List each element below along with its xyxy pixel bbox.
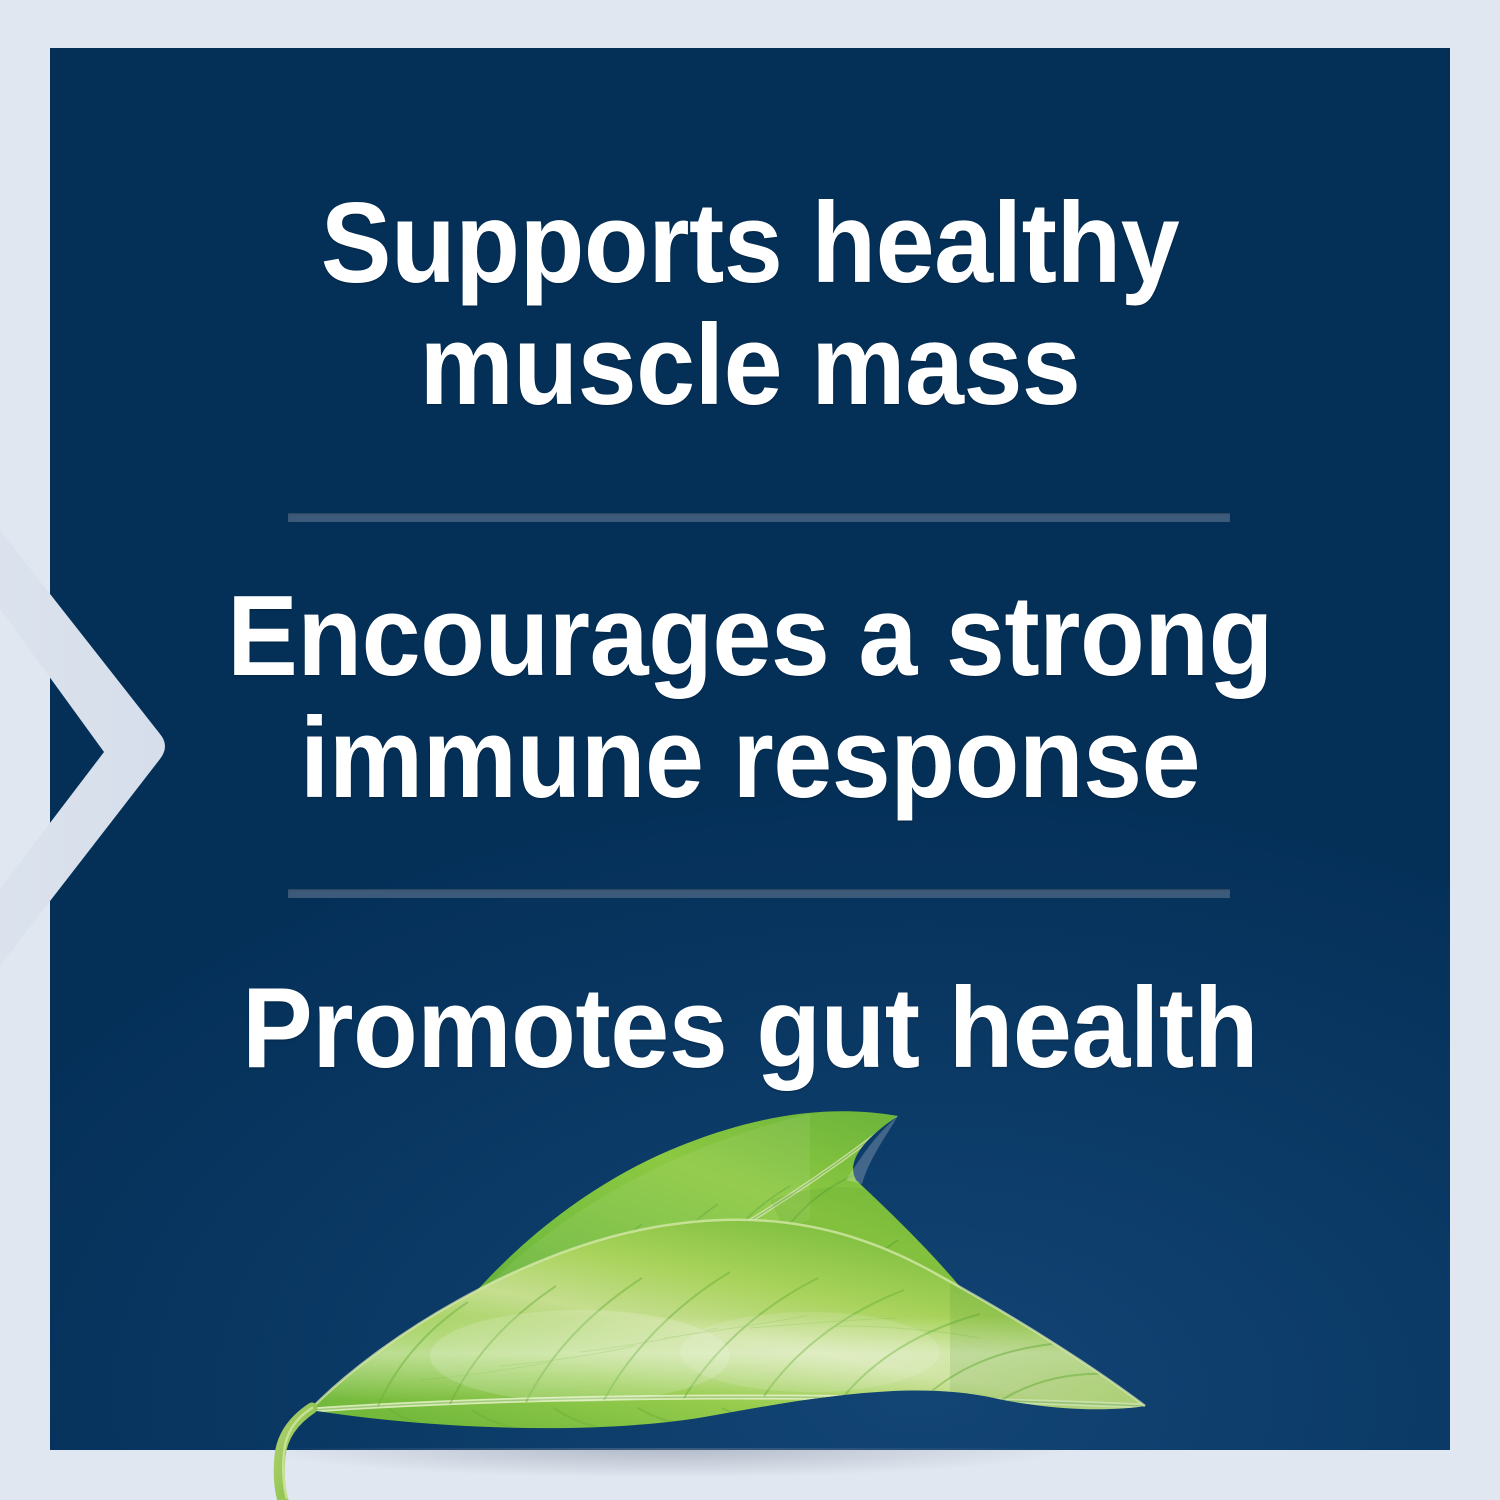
panel-sheen [50, 48, 1450, 1450]
product-benefits-card: Supports healthy muscle mass Encourages … [0, 0, 1500, 1500]
navy-panel [50, 48, 1450, 1450]
leaf-ground-shadow [260, 1448, 1160, 1488]
